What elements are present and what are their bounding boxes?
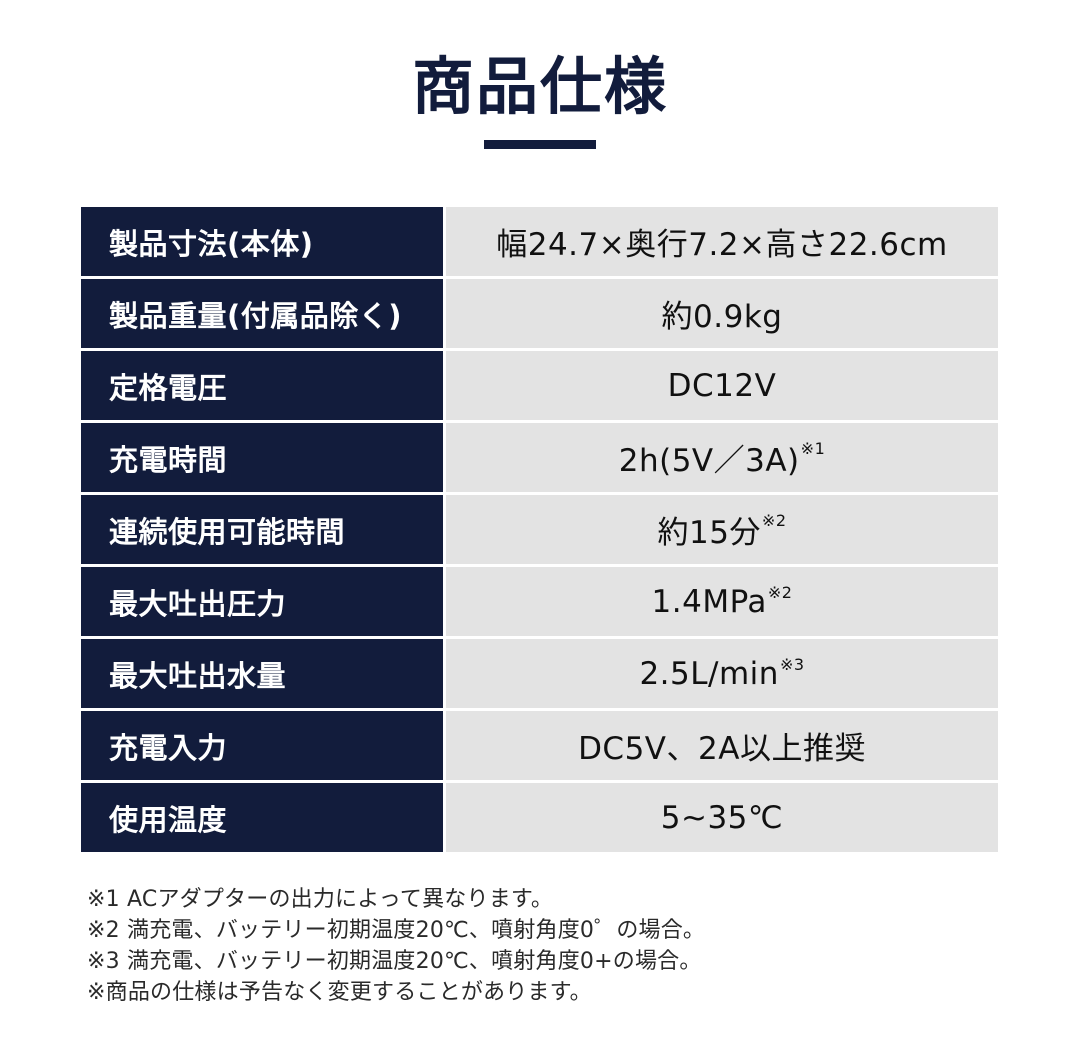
spec-label-cell: 使用温度: [81, 783, 443, 852]
table-row: 使用温度5~35℃: [81, 783, 998, 852]
spec-label-cell: 充電入力: [81, 711, 443, 780]
table-row: 充電入力DC5V、2A以上推奨: [81, 711, 998, 780]
spec-value-text: 幅24.7×奥行7.2×高さ22.6cm: [496, 219, 948, 264]
table-row: 最大吐出圧力1.4MPa※2: [81, 567, 998, 636]
title-block: 商品仕様: [0, 0, 1080, 149]
footnote-line: ※1 ACアダプターの出力によって異なります。: [87, 884, 705, 915]
spec-value-text: 5~35℃: [661, 800, 783, 836]
footnote-list: ※1 ACアダプターの出力によって異なります。※2 満充電、バッテリー初期温度2…: [87, 884, 705, 1008]
spec-value-text: 2.5L/min: [639, 656, 778, 692]
spec-value-text: 約15分: [657, 507, 760, 552]
spec-value-text: 2h(5V／3A): [619, 435, 800, 480]
spec-value-cell: 2h(5V／3A)※1: [446, 423, 998, 492]
spec-value-text: 約0.9kg: [662, 291, 783, 336]
spec-value-cell: 幅24.7×奥行7.2×高さ22.6cm: [446, 207, 998, 276]
spec-value-cell: 約0.9kg: [446, 279, 998, 348]
table-row: 最大吐出水量2.5L/min※3: [81, 639, 998, 708]
specification-table: 製品寸法(本体)幅24.7×奥行7.2×高さ22.6cm製品重量(付属品除く)約…: [81, 207, 998, 852]
page-title: 商品仕様: [0, 56, 1080, 118]
spec-value-cell: 1.4MPa※2: [446, 567, 998, 636]
table-row: 連続使用可能時間約15分※2: [81, 495, 998, 564]
spec-value-cell: 2.5L/min※3: [446, 639, 998, 708]
spec-value-cell: 約15分※2: [446, 495, 998, 564]
title-underline-bar: [484, 140, 596, 149]
spec-value-text: 1.4MPa: [652, 584, 767, 620]
spec-label-cell: 定格電圧: [81, 351, 443, 420]
table-row: 製品寸法(本体)幅24.7×奥行7.2×高さ22.6cm: [81, 207, 998, 276]
table-row: 充電時間2h(5V／3A)※1: [81, 423, 998, 492]
spec-value-text: DC5V、2A以上推奨: [578, 723, 866, 768]
spec-label-cell: 製品重量(付属品除く): [81, 279, 443, 348]
spec-label-cell: 最大吐出水量: [81, 639, 443, 708]
spec-label-cell: 最大吐出圧力: [81, 567, 443, 636]
spec-label-cell: 充電時間: [81, 423, 443, 492]
product-spec-page: 商品仕様 製品寸法(本体)幅24.7×奥行7.2×高さ22.6cm製品重量(付属…: [0, 0, 1080, 1042]
table-row: 定格電圧DC12V: [81, 351, 998, 420]
spec-label-cell: 連続使用可能時間: [81, 495, 443, 564]
spec-value-cell: 5~35℃: [446, 783, 998, 852]
footnote-line: ※商品の仕様は予告なく変更することがあります。: [87, 977, 705, 1008]
spec-value-cell: DC5V、2A以上推奨: [446, 711, 998, 780]
table-row: 製品重量(付属品除く)約0.9kg: [81, 279, 998, 348]
spec-label-cell: 製品寸法(本体): [81, 207, 443, 276]
footnote-line: ※3 満充電、バッテリー初期温度20℃、噴射角度0+の場合。: [87, 946, 705, 977]
spec-value-text: DC12V: [668, 368, 777, 404]
spec-value-cell: DC12V: [446, 351, 998, 420]
footnote-line: ※2 満充電、バッテリー初期温度20℃、噴射角度0゜の場合。: [87, 915, 705, 946]
